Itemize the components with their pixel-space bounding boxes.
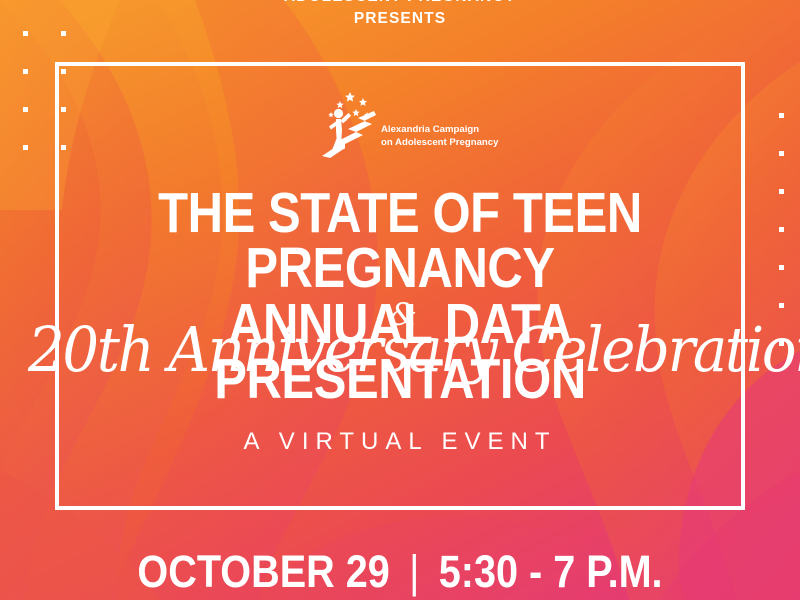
- headline-line-1: THE STATE OF TEEN PREGNANCY: [56, 186, 744, 297]
- square-dot: [779, 113, 784, 118]
- dot-cell: [6, 128, 44, 166]
- square-dot: [779, 151, 784, 156]
- dot-cell: [762, 96, 800, 134]
- dot-cell: [6, 52, 44, 90]
- dot-cell: [762, 134, 800, 172]
- square-dot: [23, 107, 28, 112]
- datetime-divider: |: [409, 549, 419, 594]
- square-dot: [779, 227, 784, 232]
- dot-cell: [6, 90, 44, 128]
- dot-cell: [762, 172, 800, 210]
- logo-wordmark-line-2: on Adolescent Pregnancy: [381, 137, 498, 150]
- dot-cell: [762, 248, 800, 286]
- event-datetime-footer: OCTOBER 29|5:30 - 7 P.M.: [48, 549, 752, 594]
- anniversary-script-text: 20th Anniversary Celebration: [28, 315, 772, 384]
- logo-wordmark-line-1: Alexandria Campaign: [381, 124, 498, 137]
- event-date: OCTOBER 29: [137, 549, 389, 594]
- organization-logo: Alexandria Campaign on Adolescent Pregna…: [318, 88, 488, 158]
- event-time: 5:30 - 7 P.M.: [439, 549, 663, 594]
- anniversary-script-block: & 20th Anniversary Celebration: [0, 300, 800, 384]
- person-reaching-stars-path-icon: [318, 90, 380, 158]
- square-dot: [23, 69, 28, 74]
- square-dot: [61, 31, 66, 36]
- presenter-line-2: PRESENTS: [0, 8, 800, 30]
- square-dot: [23, 145, 28, 150]
- event-format-subtitle: A VIRTUAL EVENT: [0, 428, 800, 456]
- event-poster: ADOLESCENT PREGNANCY PRESENTS: [0, 0, 800, 600]
- presenter-line-1: ADOLESCENT PREGNANCY: [0, 0, 800, 8]
- logo-wordmark: Alexandria Campaign on Adolescent Pregna…: [381, 124, 498, 158]
- square-dot: [23, 31, 28, 36]
- dot-cell: [762, 210, 800, 248]
- square-dot: [779, 265, 784, 270]
- presenter-banner: ADOLESCENT PREGNANCY PRESENTS: [0, 0, 800, 30]
- square-dot: [779, 189, 784, 194]
- dot-grid-right-top: [762, 96, 800, 248]
